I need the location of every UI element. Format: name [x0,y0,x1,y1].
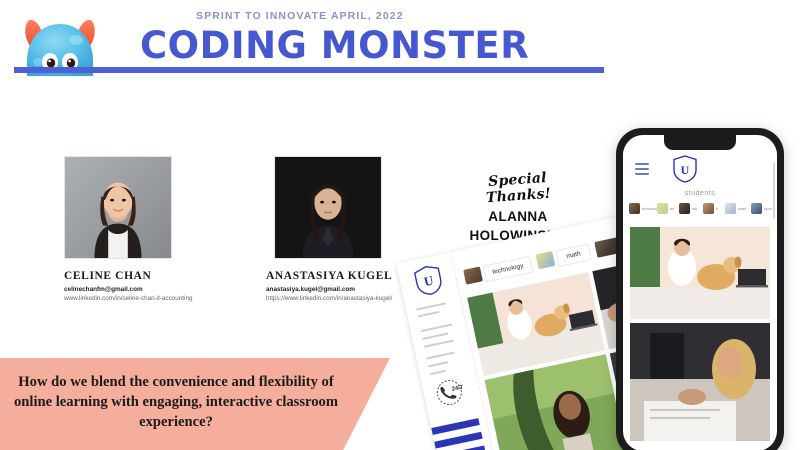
category-thumb [629,203,640,214]
category-thumb [536,251,556,269]
nav-placeholder-line [422,333,448,340]
hamburger-menu-icon[interactable] [635,163,649,178]
phone-category-row: technology art law it math [629,203,777,221]
nav-placeholder-line [427,352,455,360]
category-thumb [463,266,483,284]
university-shield-icon: U [412,263,446,298]
brand-title: CODING MONSTER [140,24,529,67]
category-thumb [725,203,736,214]
category-thumb [657,203,668,214]
phone-category-sport[interactable]: sport [751,203,772,214]
nav-placeholder-line [416,302,446,310]
category-label: art [670,207,674,211]
phone-category-law[interactable]: law [679,203,697,214]
category-thumb [679,203,690,214]
category-label: math [738,207,746,211]
svg-text:U: U [681,163,690,177]
special-thanks-script: Special Thanks! [457,168,579,208]
person-name: CELINE CHAN [64,270,151,282]
nav-placeholder-line [430,370,446,375]
phone-category-art[interactable]: art [657,203,674,214]
category-label: it [716,207,718,211]
person-email[interactable]: celinechanfm@gmail.com [64,286,143,293]
phone-section-label: students [623,190,777,197]
category-chip-technology[interactable]: technology [483,256,533,283]
phone-photo-meeting[interactable] [630,323,770,441]
phone-mockup: U students technology art law [616,128,784,450]
category-thumb [703,203,714,214]
person-linkedin-link[interactable]: www.linkedin.com/in/celine-chan-it-accou… [64,295,192,302]
category-label: law [692,207,697,211]
slide-tagline: SPRINT TO INNOVATE APRIL, 2022 [196,10,404,22]
phone-photo-vet[interactable] [630,227,770,319]
phone-category-technology[interactable]: technology [629,203,659,214]
nav-placeholder-line [428,361,448,367]
nav-placeholder-line [421,323,453,332]
phone-screen: U students technology art law [623,135,777,450]
category-chip-math[interactable]: math [555,243,592,267]
category-label: sport [764,207,772,211]
person-email[interactable]: anastasiya.kugel@gmail.com [266,286,355,293]
phone-notch [664,135,736,150]
mentor-name-line1: ALANNA [458,210,578,224]
support-24-7-badge: 24/7 [429,372,469,412]
monster-blob-icon [8,8,112,76]
person-linkedin-link[interactable]: https://www.linkedin.com/in/anastasiya-k… [266,295,392,302]
headshot-celine-chan [64,156,172,259]
phone-category-it[interactable]: it [703,203,718,214]
header-rule [14,67,604,73]
slide-header: SPRINT TO INNOVATE APRIL, 2022 CODING MO… [0,0,800,82]
university-shield-icon[interactable]: U [672,155,698,183]
svg-text:24/7: 24/7 [451,384,464,392]
nav-placeholder-line [418,311,440,318]
phone-category-math[interactable]: math [725,203,746,214]
presentation-slide: SPRINT TO INNOVATE APRIL, 2022 CODING MO… [0,0,800,450]
category-thumb [751,203,762,214]
question-text: How do we blend the convenience and flex… [0,372,352,432]
person-name: ANASTASIYA KUGEL [266,270,392,282]
nav-placeholder-line [424,340,454,348]
headshot-anastasiya-kugel [274,156,382,259]
